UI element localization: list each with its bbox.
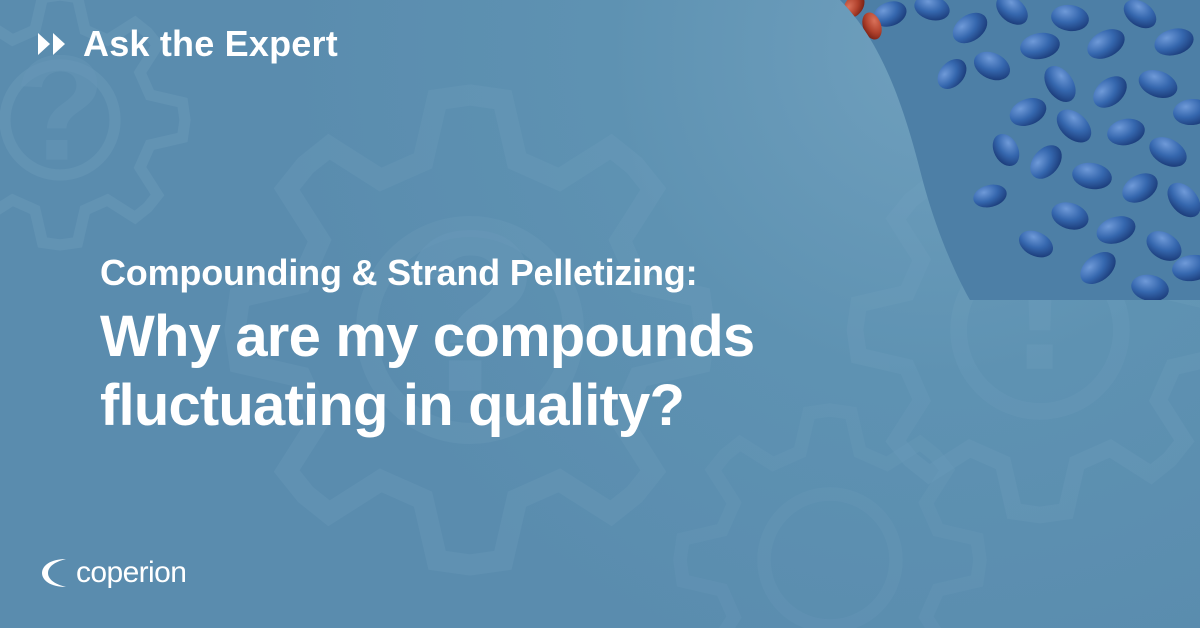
ask-the-expert-banner: ? ! ? [0, 0, 1200, 628]
double-chevron-right-icon [38, 33, 65, 55]
headline-title-line-1: Why are my compounds [100, 303, 1060, 371]
headline-title-line-2: fluctuating in quality? [100, 372, 1060, 440]
coperion-logo[interactable]: coperion [36, 556, 186, 590]
eyebrow-label: Ask the Expert [83, 26, 338, 62]
coperion-wordmark: coperion [76, 558, 186, 588]
crescent-c-icon [36, 556, 70, 590]
headline-kicker: Compounding & Strand Pelletizing: [100, 252, 1060, 293]
eyebrow: Ask the Expert [38, 26, 338, 62]
headline-block: Compounding & Strand Pelletizing: Why ar… [100, 252, 1060, 440]
